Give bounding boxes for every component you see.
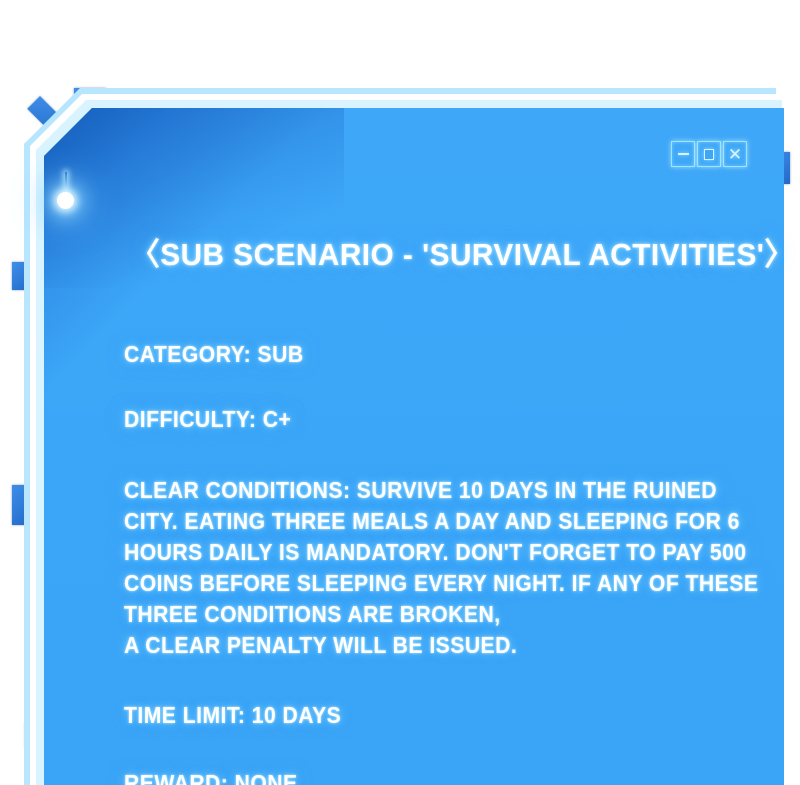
scenario-content: 〈SUB SCENARIO - 'SURVIVAL ACTIVITIES'〉 C… [124, 108, 724, 785]
close-button[interactable]: ✕ [723, 141, 747, 167]
clear-conditions-line: CLEAR CONDITIONS: SURVIVE 10 DAYS IN THE… [124, 475, 720, 506]
clear-conditions-line: A CLEAR PENALTY WILL BE ISSUED. [124, 630, 720, 661]
field-category: CATEGORY: SUB [124, 343, 676, 366]
clear-conditions-line: CITY. EATING THREE MEALS A DAY AND SLEEP… [124, 506, 720, 537]
glow-node-icon [57, 192, 74, 209]
page-title: 〈SUB SCENARIO - 'SURVIVAL ACTIVITIES'〉 [130, 239, 700, 270]
clear-conditions-line: COINS BEFORE SLEEPING EVERY NIGHT. IF AN… [124, 568, 720, 599]
clear-conditions-line: THREE CONDITIONS ARE BROKEN, [124, 599, 720, 630]
field-clear-conditions: CLEAR CONDITIONS: SURVIVE 10 DAYS IN THE… [124, 475, 720, 661]
field-time-limit: TIME LIMIT: 10 DAYS [124, 704, 676, 727]
close-icon: ✕ [728, 146, 742, 163]
field-reward: REWARD: NONE [124, 772, 676, 785]
clear-conditions-line: HOURS DAILY IS MANDATORY. DON'T FORGET T… [124, 537, 720, 568]
field-difficulty: DIFFICULTY: C+ [124, 408, 676, 431]
scenario-window-screen: ✕ 〈SUB SCENARIO - 'SURVIVAL ACTIVITIES'〉… [0, 0, 800, 785]
